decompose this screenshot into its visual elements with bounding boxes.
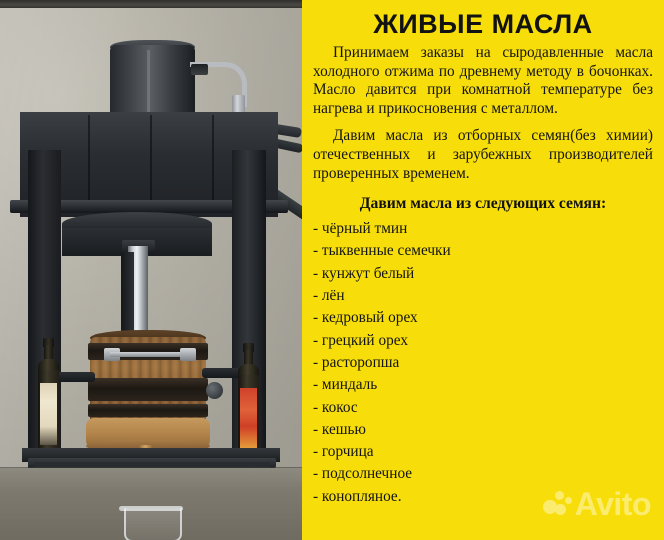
bottle-label (40, 383, 57, 445)
hose-fitting-a (191, 64, 208, 75)
barrel-bolt-right (180, 348, 196, 361)
list-item: - грецкий орех (313, 330, 664, 352)
list-item: - лён (313, 285, 664, 307)
list-item: - кешью (313, 419, 664, 441)
list-item: - подсолнечное (313, 463, 664, 485)
seed-list: - чёрный тмин - тыквенные семечки - кунж… (302, 218, 664, 508)
ad-title: ЖИВЫЕ МАСЛА (302, 9, 664, 39)
glass-jug (124, 508, 182, 540)
bottle-label (240, 388, 257, 450)
list-item: - горчица (313, 441, 664, 463)
crossbeam-rib-left (88, 115, 90, 203)
avito-logo-icon (543, 491, 572, 517)
crossbeam-rib-mid (150, 115, 152, 203)
barrel-hoop-lower (88, 404, 208, 417)
list-item: - миндаль (313, 374, 664, 396)
list-item: - кунжут белый (313, 263, 664, 285)
list-item: - тыквенные семечки (313, 240, 664, 262)
ad-subheading: Давим масла из следующих семян: (313, 194, 653, 213)
ad-paragraph-2: Давим масла из отборных семян(без химии)… (313, 127, 653, 183)
image-root: ЖИВЫЕ МАСЛА Принимаем заказы на сыродавл… (0, 0, 664, 540)
list-item: - кедровый орех (313, 307, 664, 329)
ad-panel: ЖИВЫЕ МАСЛА Принимаем заказы на сыродавл… (302, 0, 664, 540)
barrel-hoop-middle (88, 378, 208, 401)
list-item: - расторопша (313, 352, 664, 374)
list-item: - кокос (313, 397, 664, 419)
barrel-bolt-rod (110, 352, 184, 357)
press-side-arm-left (55, 372, 95, 382)
avito-wordmark: Avito (575, 488, 651, 520)
ad-paragraph-1: Принимаем заказы на сыродавленные масла … (313, 44, 653, 118)
ceiling-strip (0, 0, 302, 8)
oil-press-photo (0, 0, 302, 540)
crossbeam-rib-right (212, 115, 214, 203)
avito-watermark: Avito (543, 488, 651, 520)
press-valve-knob (206, 382, 223, 399)
list-item: - чёрный тмин (313, 218, 664, 240)
